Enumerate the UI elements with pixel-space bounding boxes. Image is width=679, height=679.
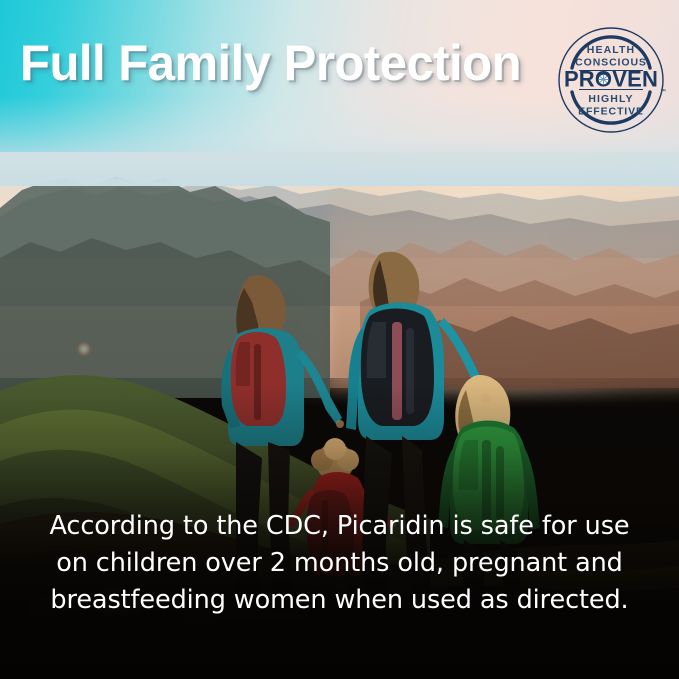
page-title: Full Family Protection — [20, 36, 539, 90]
badge-bottom-line-1: HIGHLY — [588, 93, 633, 105]
badge-bottom-line-2: EFFECTIVE — [578, 106, 644, 118]
proven-badge: HEALTH CONSCIOUS PROVEN HIGHLY EFFECTIVE… — [555, 24, 667, 136]
mosquito-icon — [598, 74, 609, 85]
caption-line-2: on children over 2 months old, pregnant … — [0, 545, 679, 582]
caption-block: According to the CDC, Picaridin is safe … — [0, 508, 679, 619]
badge-wordmark: PROVEN — [564, 67, 658, 92]
ad-creative: Full Family Protection HEALTH CONSCIOUS … — [0, 0, 679, 679]
caption-line-1: According to the CDC, Picaridin is safe … — [0, 508, 679, 545]
badge-top-line-1: HEALTH — [587, 44, 635, 56]
trademark-symbol: ™ — [660, 89, 666, 95]
caption-line-3: breastfeeding women when used as directe… — [0, 582, 679, 619]
